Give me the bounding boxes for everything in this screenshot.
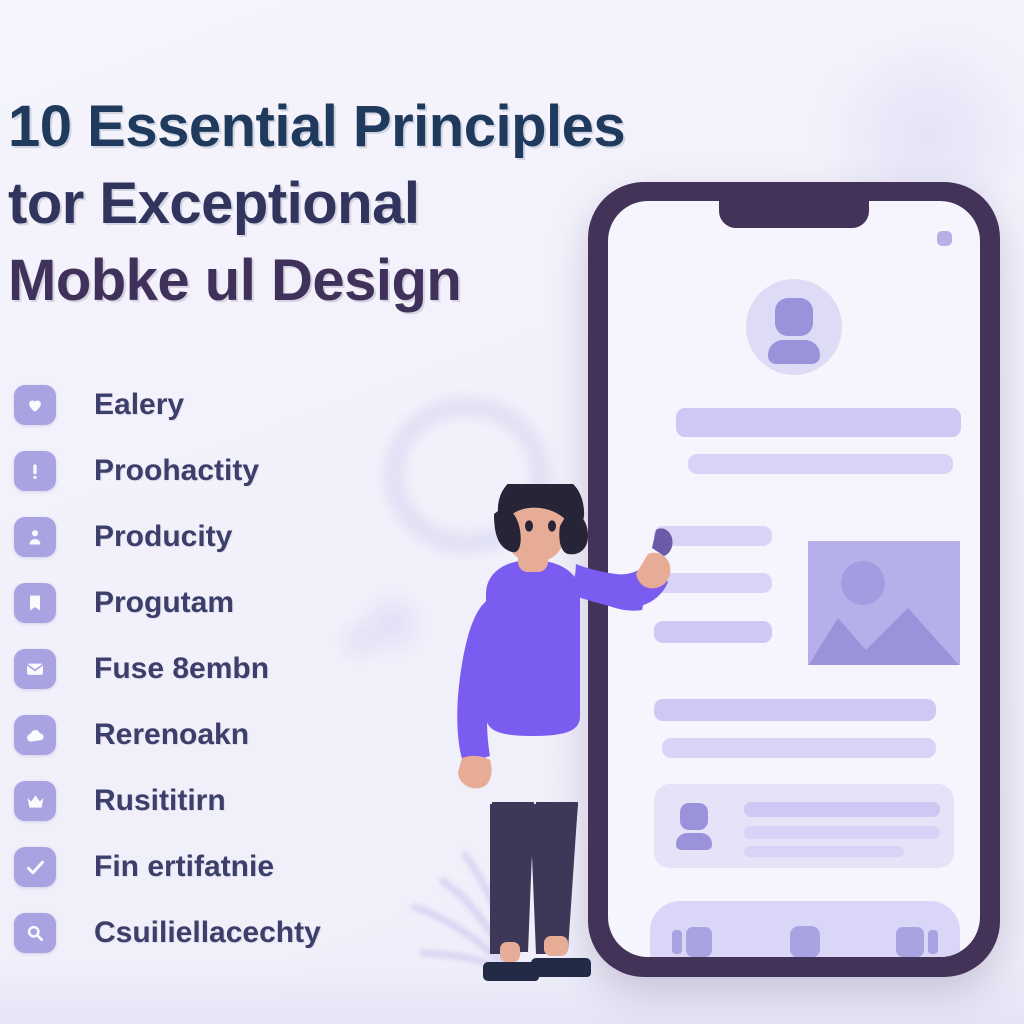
list-item[interactable]: Rerenoakn bbox=[14, 702, 414, 768]
image-placeholder-card[interactable] bbox=[808, 541, 960, 665]
row-avatar bbox=[674, 803, 714, 849]
list-item-label: Fin ertifatnie bbox=[94, 850, 274, 884]
wide-skeleton-line-2 bbox=[662, 738, 936, 758]
row-text-line-3 bbox=[744, 846, 904, 857]
search-icon bbox=[14, 913, 56, 953]
row-avatar-body bbox=[676, 833, 712, 850]
list-item[interactable]: Producity bbox=[14, 504, 414, 570]
list-item-label: Proohactity bbox=[94, 454, 259, 488]
wide-skeleton-line-1 bbox=[654, 699, 936, 721]
crown-icon bbox=[14, 781, 56, 821]
list-item[interactable]: Fuse 8embn bbox=[14, 636, 414, 702]
tab-profile-icon[interactable] bbox=[896, 927, 924, 957]
phone-notch bbox=[719, 201, 869, 228]
tab-home-icon-body[interactable] bbox=[686, 927, 712, 957]
list-item[interactable]: Fin ertifatnie bbox=[14, 834, 414, 900]
exclamation-icon bbox=[14, 451, 56, 491]
subtitle-skeleton-bar bbox=[688, 454, 953, 474]
list-item-label: Producity bbox=[94, 520, 232, 554]
bottom-tab-bar[interactable] bbox=[650, 901, 960, 957]
list-item-label: Rerenoakn bbox=[94, 718, 249, 752]
heart-icon bbox=[14, 385, 56, 425]
mail-icon bbox=[14, 649, 56, 689]
list-item[interactable]: Ealery bbox=[14, 372, 414, 438]
cloud-icon bbox=[14, 715, 56, 755]
status-dot bbox=[937, 231, 952, 246]
person-icon bbox=[14, 517, 56, 557]
list-item[interactable]: Rusititirn bbox=[14, 768, 414, 834]
principles-list: Ealery Proohactity Producity Progutam Fu bbox=[14, 372, 414, 966]
list-item[interactable]: Progutam bbox=[14, 570, 414, 636]
row-avatar-head bbox=[680, 803, 708, 830]
avatar-body-shape bbox=[768, 340, 820, 364]
tab-profile-icon-accent[interactable] bbox=[928, 930, 938, 954]
list-item-label: Ealery bbox=[94, 388, 184, 422]
list-item-label: Progutam bbox=[94, 586, 234, 620]
tab-center-icon[interactable] bbox=[790, 926, 820, 957]
contact-list-row[interactable] bbox=[654, 784, 954, 868]
list-item[interactable]: Proohactity bbox=[14, 438, 414, 504]
row-text-line-1 bbox=[744, 802, 940, 817]
poster-canvas: 10 Essential Principles tor Exceptional … bbox=[0, 0, 1024, 1024]
title-skeleton-bar bbox=[676, 408, 961, 437]
profile-avatar bbox=[746, 279, 842, 375]
image-placeholder-mountain-icon bbox=[808, 588, 960, 665]
check-icon bbox=[14, 847, 56, 887]
list-item-label: Csuiliellacechty bbox=[94, 916, 321, 950]
headline-line-1: 10 Essential Principles bbox=[8, 88, 698, 165]
person-pointing-at-phone bbox=[428, 484, 678, 994]
bookmark-icon bbox=[14, 583, 56, 623]
list-item-label: Fuse 8embn bbox=[94, 652, 269, 686]
avatar-head-shape bbox=[775, 298, 813, 336]
list-item[interactable]: Csuiliellacechty bbox=[14, 900, 414, 966]
list-item-label: Rusititirn bbox=[94, 784, 226, 818]
row-text-line-2 bbox=[744, 826, 940, 839]
